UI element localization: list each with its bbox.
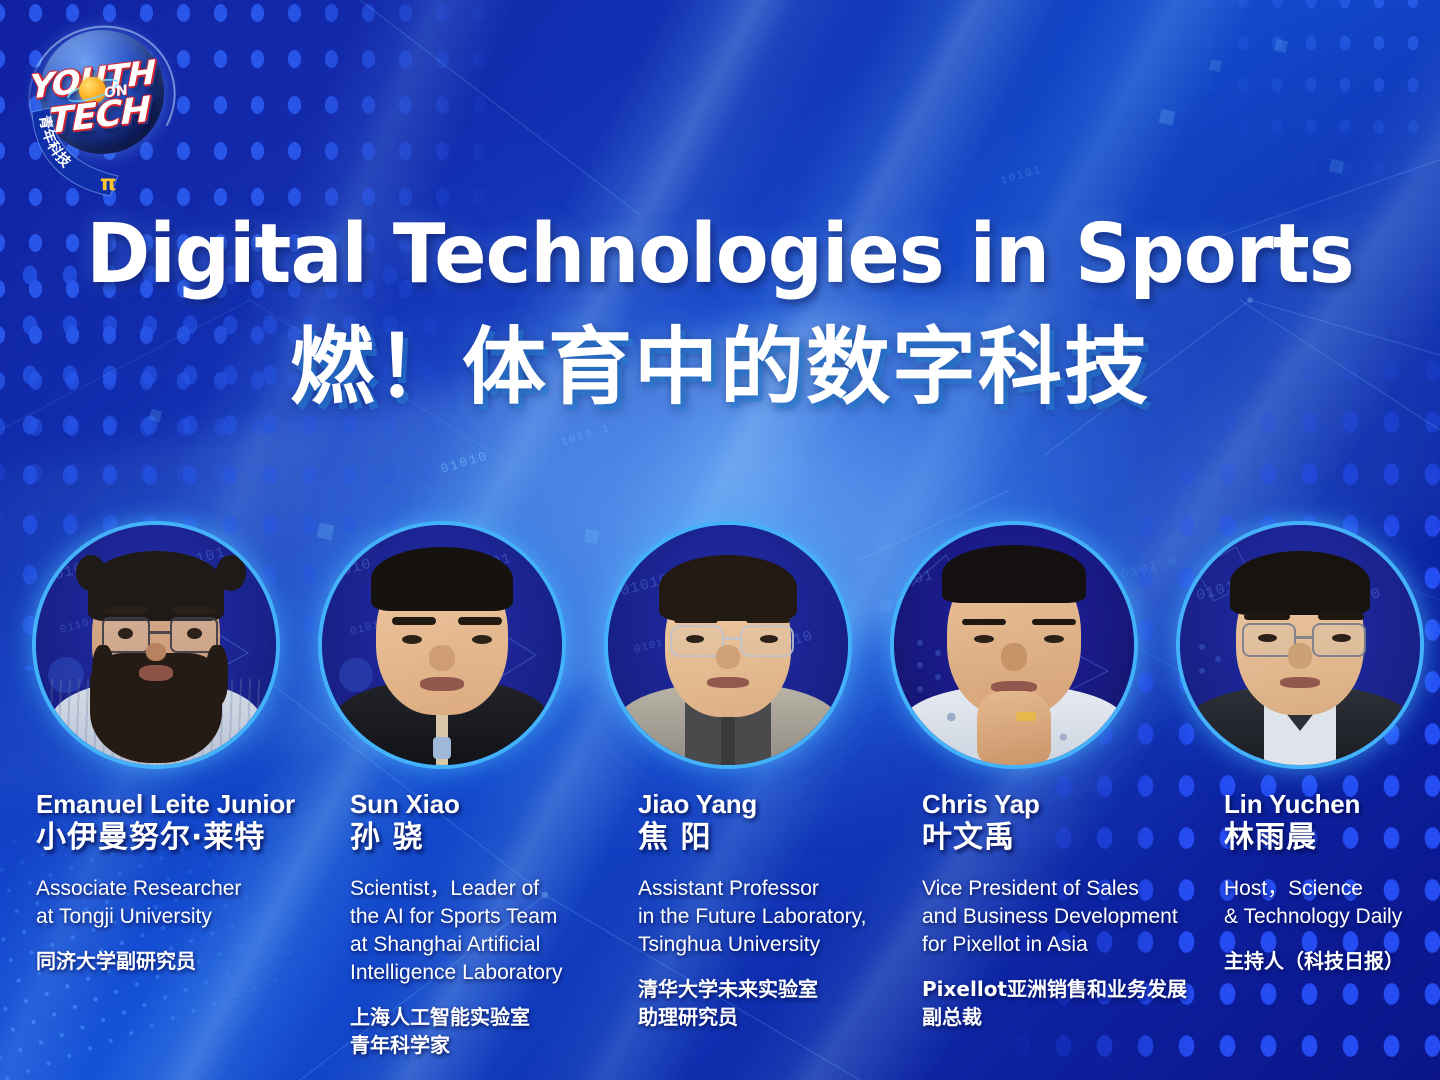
avatar[interactable]: 0101 01010 xyxy=(1176,521,1424,769)
speaker-title-cn: 清华大学未来实验室 助理研究员 xyxy=(638,975,908,1032)
speaker-title-en: Vice President of Sales and Business Dev… xyxy=(922,875,1212,959)
speaker-title-en: Associate Researcher at Tongji Universit… xyxy=(36,875,336,931)
speaker-photo-5: 0101 01010 xyxy=(1180,525,1420,765)
speaker-row: 010 1 1101 0110 xyxy=(0,0,1440,1080)
speaker-name-en: Emanuel Leite Junior xyxy=(36,790,336,819)
speaker-name-en: Sun Xiao xyxy=(350,790,610,819)
avatar[interactable]: 01 1010 xyxy=(890,521,1138,769)
speaker-name-cn: 小伊曼努尔·莱特 xyxy=(36,819,336,857)
speaker-photo-1: 010 1 1101 0110 xyxy=(36,525,276,765)
avatar[interactable]: 010 1 1101 0110 xyxy=(32,521,280,769)
speaker-name-en: Lin Yuchen xyxy=(1224,790,1440,819)
speaker-title-en: Host，Science & Technology Daily xyxy=(1224,875,1440,931)
speaker-title-cn: 同济大学副研究员 xyxy=(36,947,336,975)
poster-canvas: 01010 1010 1 010101 0101 0 01010 10101 Y… xyxy=(0,0,1440,1080)
speaker-name-cn: 叶文禹 xyxy=(922,819,1212,857)
speaker-name-en: Jiao Yang xyxy=(638,790,908,819)
speaker-title-en: Scientist，Leader of the AI for Sports Te… xyxy=(350,875,610,987)
speaker-photo-2: 010 1101 0101 xyxy=(322,525,562,765)
speaker-name-cn: 孙 骁 xyxy=(350,819,610,857)
avatar[interactable]: 01010 101010 0101 xyxy=(604,521,852,769)
speaker-title-cn: 主持人（科技日报） xyxy=(1224,947,1440,975)
avatar[interactable]: 010 1101 0101 xyxy=(318,521,566,769)
speaker-title-cn: Pixellot亚洲销售和业务发展 副总裁 xyxy=(922,975,1212,1032)
speaker-photo-4: 01 1010 xyxy=(894,525,1134,765)
speaker-photo-3: 01010 101010 0101 xyxy=(608,525,848,765)
speaker-title-en: Assistant Professor in the Future Labora… xyxy=(638,875,908,959)
speaker-title-cn: 上海人工智能实验室 青年科学家 xyxy=(350,1003,610,1060)
speaker-name-cn: 林雨晨 xyxy=(1224,819,1440,857)
speaker-name-cn: 焦 阳 xyxy=(638,819,908,857)
speaker-name-en: Chris Yap xyxy=(922,790,1212,819)
